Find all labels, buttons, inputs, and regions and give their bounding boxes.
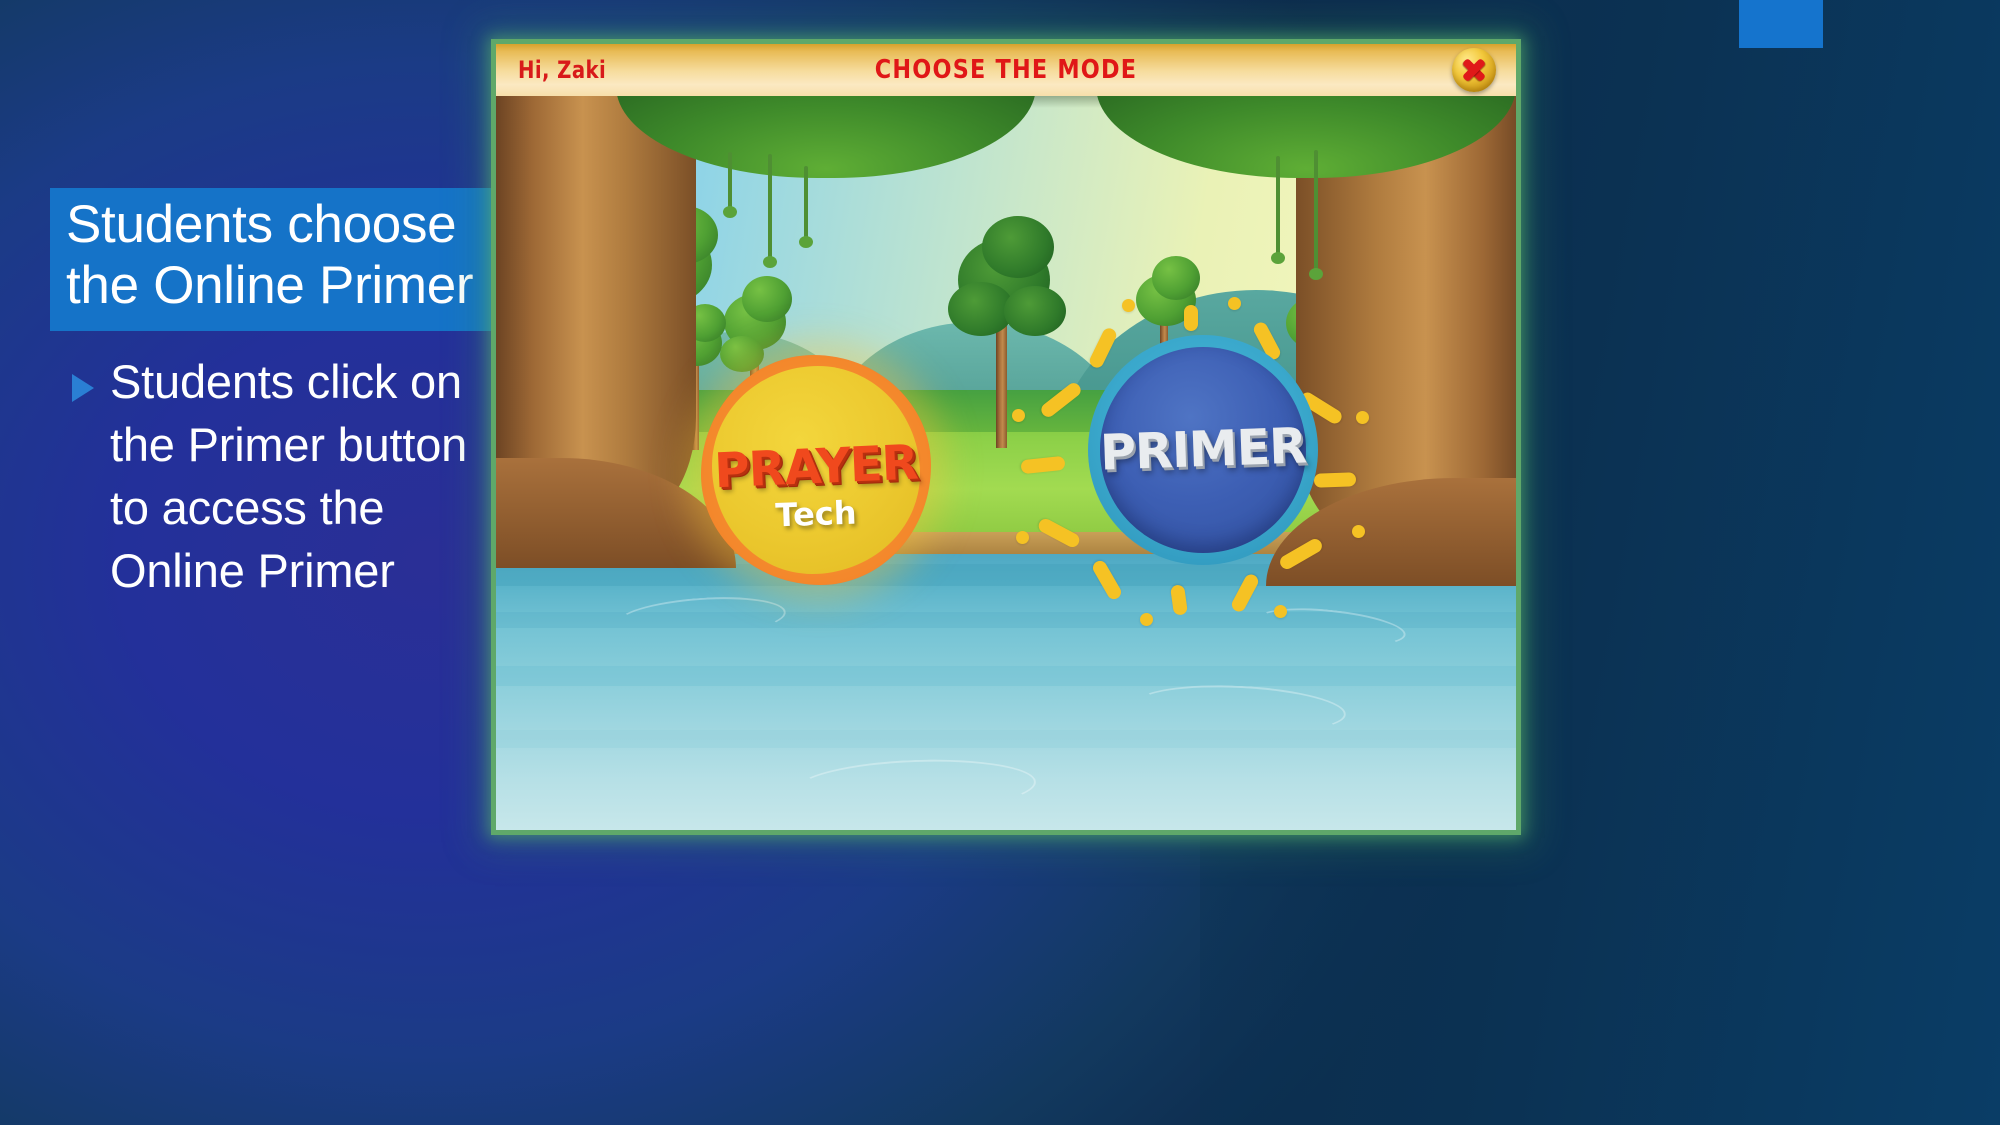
primer-button-label: PRIMER <box>1087 417 1319 482</box>
slide-bullet-item: Students click on the Primer button to a… <box>72 350 492 602</box>
app-titlebar: Hi, Zaki CHOOSE THE MODE <box>496 44 1516 96</box>
presentation-slide: Students choose the Online Primer Studen… <box>0 0 2000 1125</box>
scene-foreground-tree-left <box>496 92 696 532</box>
scene-vine <box>728 152 732 214</box>
game-scene: PRAYER Tech <box>496 92 1516 830</box>
water-ripple <box>795 756 1037 816</box>
close-button[interactable] <box>1452 48 1496 92</box>
scene-vine <box>804 166 808 244</box>
scene-vine <box>768 154 772 264</box>
prayer-button-label: PRAYER <box>700 434 932 500</box>
game-app-window: Hi, Zaki CHOOSE THE MODE <box>496 44 1516 830</box>
scene-vine <box>1276 156 1280 260</box>
triangle-right-icon <box>72 374 94 402</box>
prayer-button-sublabel: Tech <box>700 491 931 537</box>
scene-vine <box>1314 150 1318 276</box>
user-greeting: Hi, Zaki <box>518 56 606 84</box>
water-ripple <box>615 592 787 644</box>
scene-water <box>496 554 1516 830</box>
top-accent-rectangle <box>1739 0 1823 48</box>
app-title: CHOOSE THE MODE <box>875 55 1137 85</box>
mode-button-prayer-tech[interactable]: PRAYER Tech <box>701 355 931 585</box>
slide-bullet-text: Students click on the Primer button to a… <box>110 350 492 602</box>
mode-button-primer[interactable]: PRIMER <box>1088 335 1318 565</box>
water-band <box>496 730 1516 748</box>
water-ripple <box>1135 681 1347 738</box>
water-band <box>496 666 1516 686</box>
